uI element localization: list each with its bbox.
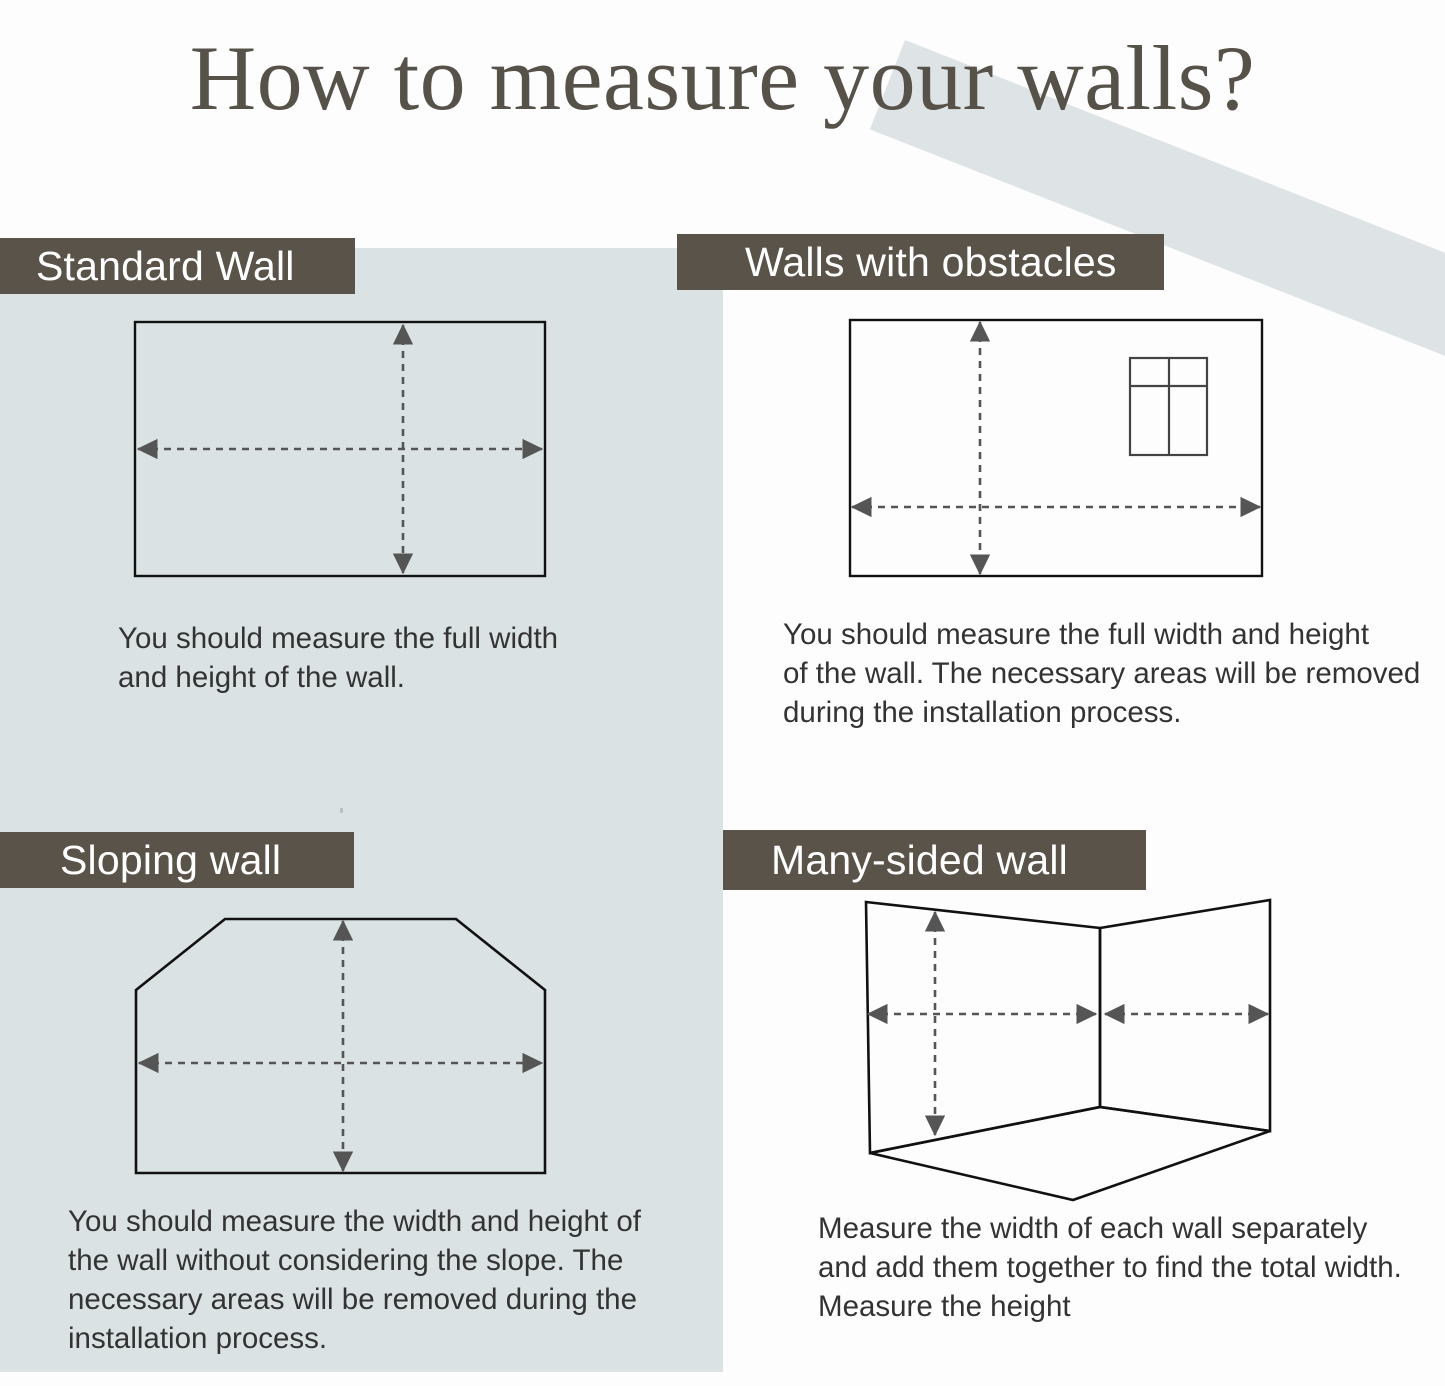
window-obstacle-icon bbox=[1130, 358, 1207, 455]
corner-room-outline bbox=[866, 900, 1270, 1200]
diagram-walls-with-obstacles bbox=[830, 300, 1300, 600]
section-header-label: Walls with obstacles bbox=[745, 242, 1117, 283]
section-header-sloping-wall: Sloping wall bbox=[0, 832, 354, 888]
sloped-wall-outline bbox=[136, 919, 545, 1173]
infographic-page: How to measure your walls? Standard Wall… bbox=[0, 0, 1445, 1386]
diagram-standard-wall bbox=[110, 300, 610, 600]
caption-standard-wall: You should measure the full width and he… bbox=[118, 620, 638, 698]
diagram-sloping-wall bbox=[110, 890, 590, 1200]
caption-many-sided-wall: Measure the width of each wall separatel… bbox=[818, 1210, 1438, 1327]
diagram-many-sided-wall bbox=[840, 880, 1310, 1220]
page-title: How to measure your walls? bbox=[0, 30, 1445, 127]
section-header-label: Sloping wall bbox=[60, 840, 281, 881]
decorative-speck bbox=[340, 808, 343, 813]
caption-walls-with-obstacles: You should measure the full width and he… bbox=[783, 616, 1423, 733]
section-header-walls-with-obstacles: Walls with obstacles bbox=[677, 234, 1164, 290]
section-header-label: Many-sided wall bbox=[771, 840, 1068, 881]
section-header-standard-wall: Standard Wall bbox=[0, 238, 355, 294]
caption-sloping-wall: You should measure the width and height … bbox=[68, 1203, 668, 1359]
section-header-label: Standard Wall bbox=[36, 246, 295, 287]
